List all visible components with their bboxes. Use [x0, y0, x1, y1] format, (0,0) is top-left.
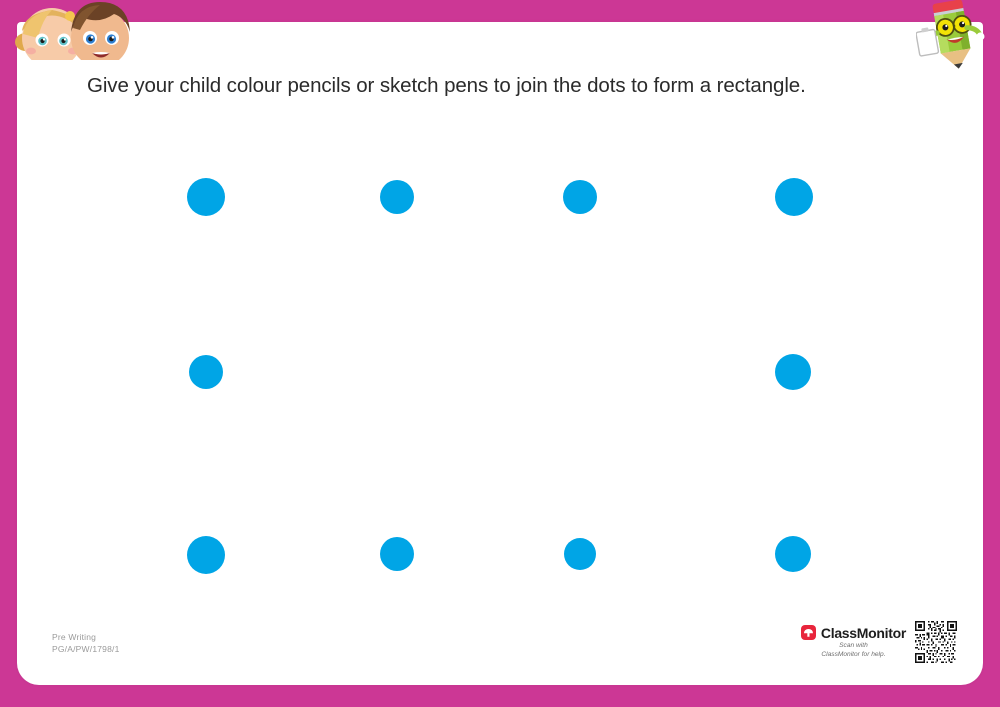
- brand-row: ClassMonitor: [801, 625, 906, 641]
- brand-lockup: ClassMonitor Scan with ClassMonitor for …: [801, 625, 906, 659]
- dot-top-1[interactable]: [187, 178, 225, 216]
- dot-top-2[interactable]: [380, 180, 414, 214]
- dot-bot-1[interactable]: [187, 536, 225, 574]
- brand-tagline-line1: Scan with: [839, 642, 868, 649]
- dot-bot-4[interactable]: [775, 536, 811, 572]
- brand-footer: ClassMonitor Scan with ClassMonitor for …: [801, 621, 957, 663]
- worksheet-code: Pre Writing PG/A/PW/1798/1: [52, 631, 120, 655]
- instruction-text: Give your child colour pencils or sketch…: [87, 72, 917, 100]
- dot-top-3[interactable]: [563, 180, 597, 214]
- brand-name: ClassMonitor: [821, 625, 906, 641]
- worksheet-page: Give your child colour pencils or sketch…: [0, 0, 1000, 707]
- worksheet-category: Pre Writing: [52, 631, 120, 643]
- dot-mid-right[interactable]: [775, 354, 811, 390]
- children-illustration: [4, 0, 136, 60]
- pencil-mascot-illustration: [916, 0, 992, 72]
- boy-face: [71, 2, 130, 60]
- worksheet-paper: Give your child colour pencils or sketch…: [17, 22, 983, 685]
- dot-bot-3[interactable]: [564, 538, 596, 570]
- classmonitor-logo-icon: [801, 625, 816, 640]
- qr-code-icon[interactable]: [915, 621, 957, 663]
- dot-mid-left[interactable]: [189, 355, 223, 389]
- dot-bot-2[interactable]: [380, 537, 414, 571]
- brand-tagline-line2: ClassMonitor for help.: [821, 651, 885, 658]
- dot-grid: [17, 22, 983, 685]
- worksheet-id: PG/A/PW/1798/1: [52, 643, 120, 655]
- dot-top-4[interactable]: [775, 178, 813, 216]
- brand-tagline: Scan with ClassMonitor for help.: [821, 642, 885, 659]
